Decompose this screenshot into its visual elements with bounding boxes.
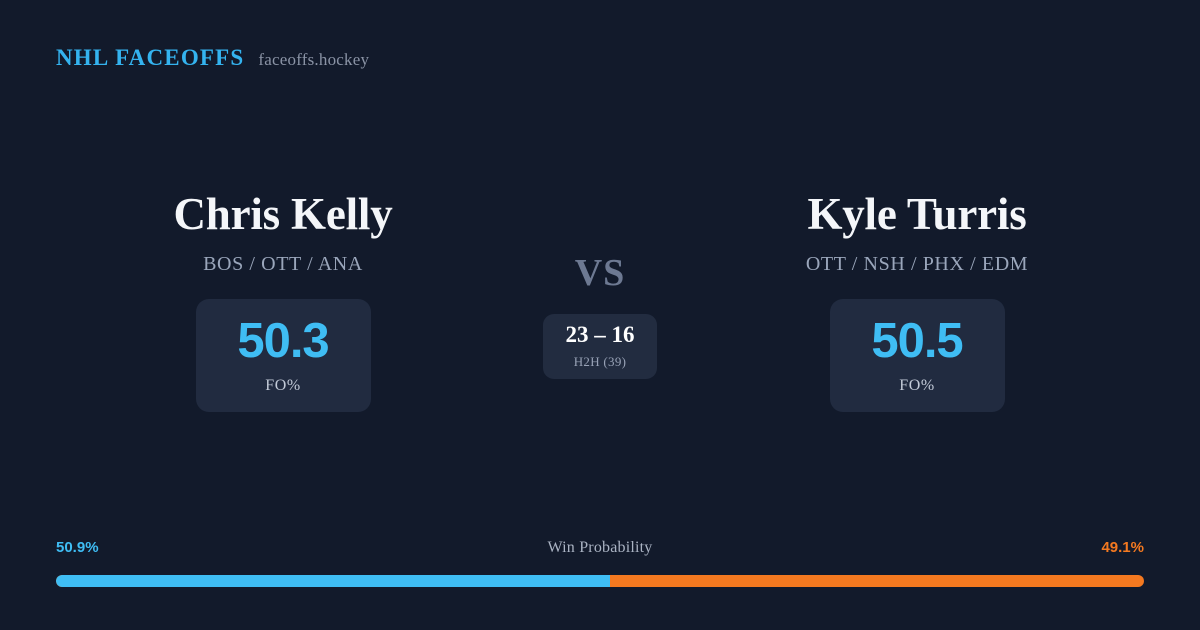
win-probability-bar	[56, 575, 1144, 587]
win-probability-labels: 50.9% Win Probability 49.1%	[56, 540, 1144, 562]
player-card-left: Chris Kelly BOS / OTT / ANA 50.3 FO%	[53, 192, 513, 412]
faceoff-pct-label-right: FO%	[899, 377, 935, 395]
player-card-right: Kyle Turris OTT / NSH / PHX / EDM 50.5 F…	[687, 192, 1147, 412]
brand-domain: faceoffs.hockey	[258, 51, 369, 68]
stat-card-left: 50.3 FO%	[196, 299, 371, 412]
player-teams-right: OTT / NSH / PHX / EDM	[687, 253, 1147, 276]
head-to-head-card: 23 – 16 H2H (39)	[543, 314, 657, 379]
h2h-record: 23 – 16	[566, 323, 635, 346]
faceoff-pct-value-right: 50.5	[871, 317, 962, 366]
stat-card-right: 50.5 FO%	[830, 299, 1005, 412]
win-probability-bar-left-fill	[56, 575, 610, 587]
player-name-left: Chris Kelly	[53, 192, 513, 237]
faceoff-pct-label-left: FO%	[265, 377, 301, 395]
win-probability-right-value: 49.1%	[1101, 540, 1144, 555]
matchup-section: Chris Kelly BOS / OTT / ANA 50.3 FO% VS …	[0, 192, 1200, 432]
h2h-label: H2H (39)	[574, 354, 627, 370]
win-probability-title: Win Probability	[56, 540, 1144, 556]
player-name-right: Kyle Turris	[687, 192, 1147, 237]
site-header: NHL FACEOFFS faceoffs.hockey	[56, 46, 369, 69]
faceoff-pct-value-left: 50.3	[237, 317, 328, 366]
win-probability-section: 50.9% Win Probability 49.1%	[56, 540, 1144, 587]
brand-title: NHL FACEOFFS	[56, 46, 244, 69]
player-teams-left: BOS / OTT / ANA	[53, 253, 513, 276]
